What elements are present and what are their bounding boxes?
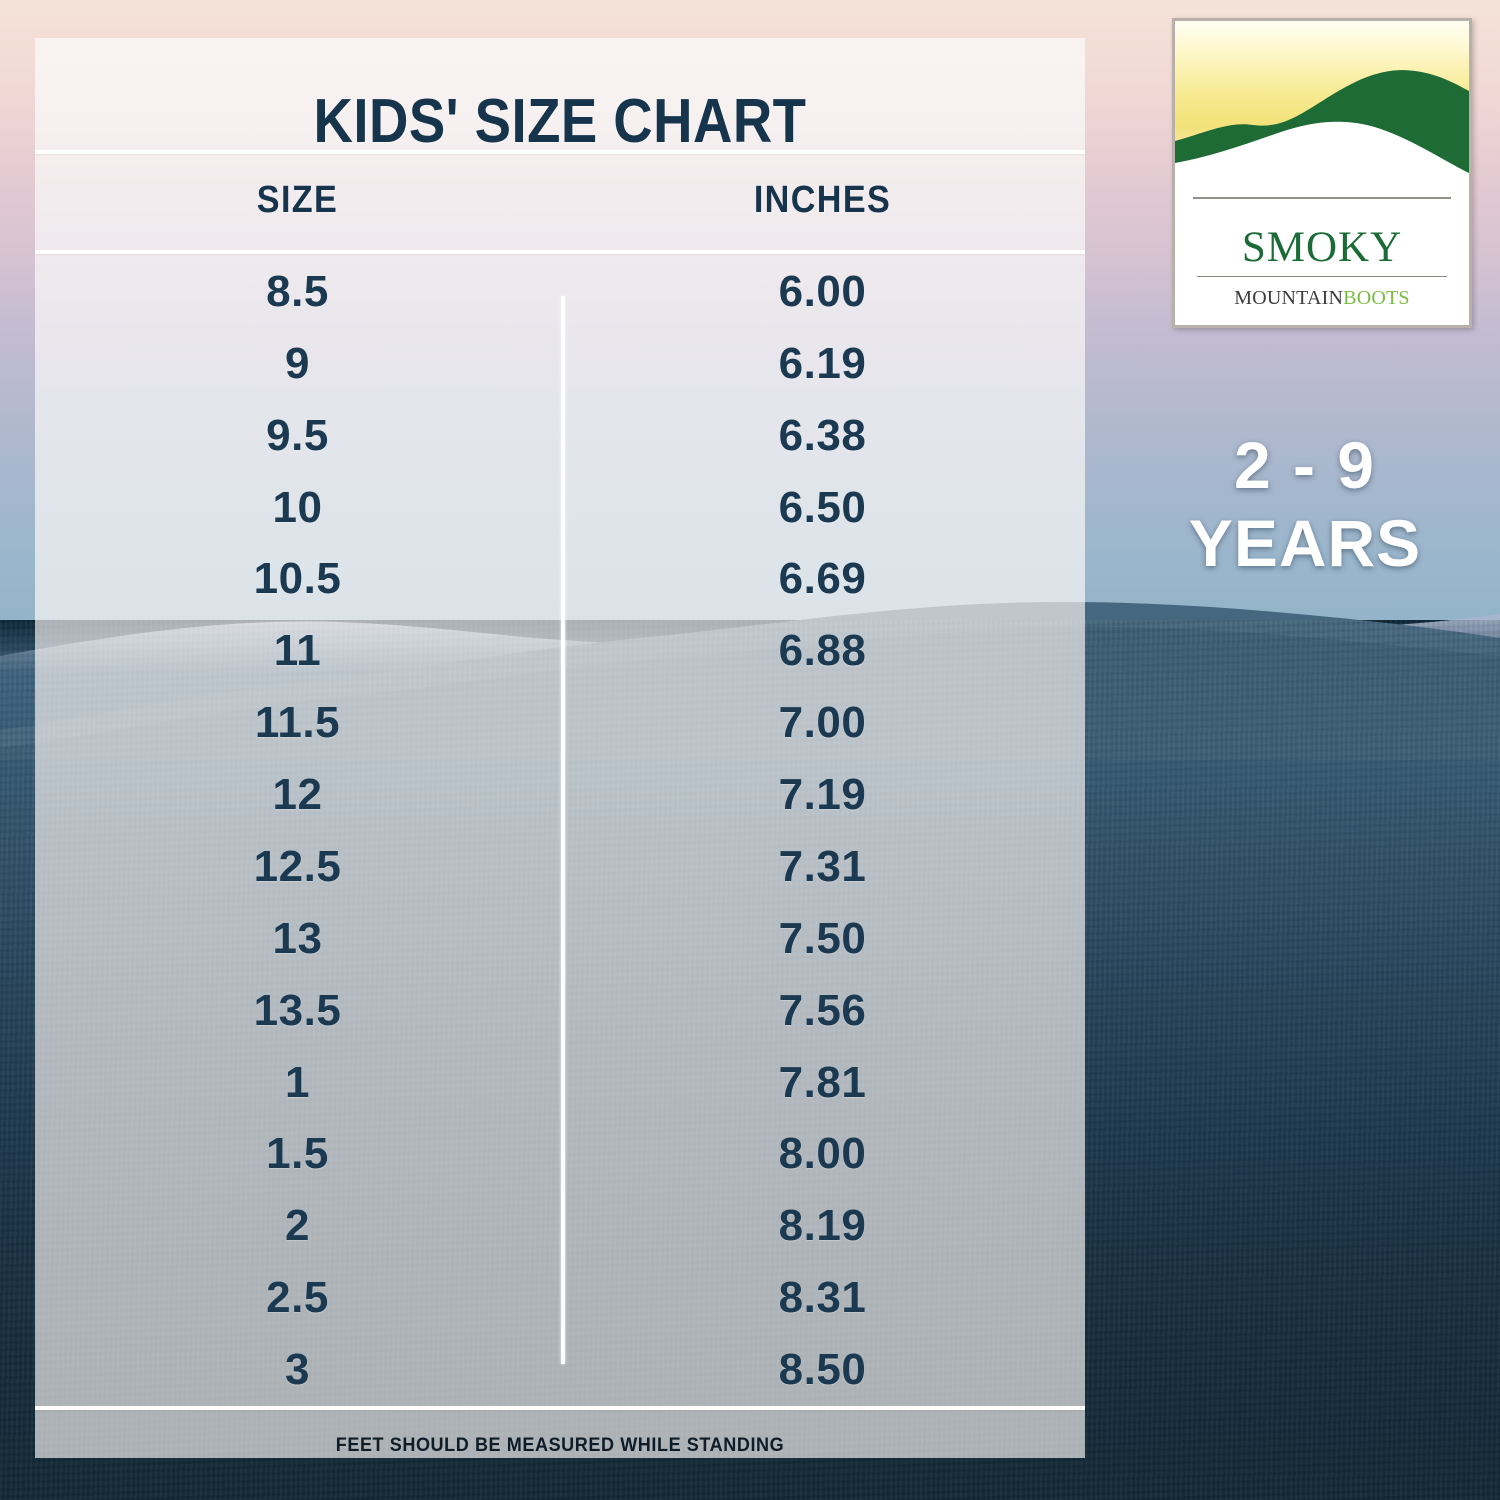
age-range-value: 2 - 9 (1110, 432, 1500, 498)
cell-inches: 7.81 (560, 1047, 1085, 1119)
cell-inches: 6.00 (560, 256, 1085, 328)
age-range-unit: YEARS (1110, 510, 1500, 576)
cell-inches: 7.31 (560, 831, 1085, 903)
table-row: 38.50 (35, 1334, 1085, 1406)
cell-size: 8.5 (35, 256, 560, 328)
cell-inches: 8.50 (560, 1334, 1085, 1406)
cell-inches: 6.19 (560, 328, 1085, 400)
cell-size: 9.5 (35, 400, 560, 472)
logo-divider (1193, 197, 1452, 199)
table-row: 12.57.31 (35, 831, 1085, 903)
logo-boots-text: Boots (1343, 280, 1410, 311)
logo-smoky-text: Smoky (1242, 210, 1402, 272)
table-row: 106.50 (35, 472, 1085, 544)
cell-size: 3 (35, 1334, 560, 1406)
cell-inches: 8.00 (560, 1119, 1085, 1191)
divider-header (35, 250, 1085, 254)
mountain-sunrise-icon (1175, 21, 1469, 197)
divider-footer (35, 1406, 1085, 1410)
cell-inches: 8.19 (560, 1190, 1085, 1262)
cell-inches: 7.19 (560, 759, 1085, 831)
table-row: 28.19 (35, 1190, 1085, 1262)
cell-size: 11.5 (35, 687, 560, 759)
cell-size: 12.5 (35, 831, 560, 903)
table-row: 1.58.00 (35, 1119, 1085, 1191)
cell-size: 2.5 (35, 1262, 560, 1334)
table-row: 11.57.00 (35, 687, 1085, 759)
cell-size: 11 (35, 615, 560, 687)
table-row: 8.56.00 (35, 256, 1085, 328)
table-row: 13.57.56 (35, 975, 1085, 1047)
cell-size: 13 (35, 903, 560, 975)
measurement-note: FEET SHOULD BE MEASURED WHILE STANDING (61, 1423, 1059, 1468)
logo-wordmark: Smoky MountainBoots (1175, 199, 1469, 325)
cell-size: 1 (35, 1047, 560, 1119)
cell-inches: 6.69 (560, 544, 1085, 616)
table-header-row: SIZE INCHES (35, 150, 1085, 250)
cell-size: 12 (35, 759, 560, 831)
table-row: 127.19 (35, 759, 1085, 831)
age-range-badge: 2 - 9 YEARS (1110, 432, 1500, 576)
cell-inches: 6.38 (560, 400, 1085, 472)
table-row: 9.56.38 (35, 400, 1085, 472)
cell-inches: 8.31 (560, 1262, 1085, 1334)
cell-size: 2 (35, 1190, 560, 1262)
cell-inches: 7.56 (560, 975, 1085, 1047)
table-row: 96.19 (35, 328, 1085, 400)
cell-inches: 7.50 (560, 903, 1085, 975)
table-row: 17.81 (35, 1047, 1085, 1119)
table-row: 137.50 (35, 903, 1085, 975)
cell-inches: 7.00 (560, 687, 1085, 759)
table-body: 8.56.0096.199.56.38106.5010.56.69116.881… (35, 256, 1085, 1406)
logo-underline (1197, 276, 1447, 277)
page-title: KIDS' SIZE CHART (98, 86, 1022, 157)
brand-logo[interactable]: Smoky MountainBoots (1172, 18, 1472, 328)
cell-inches: 6.50 (560, 472, 1085, 544)
column-header-inches: INCHES (586, 150, 1059, 250)
table-row: 116.88 (35, 615, 1085, 687)
cell-size: 10 (35, 472, 560, 544)
cell-inches: 6.88 (560, 615, 1085, 687)
cell-size: 9 (35, 328, 560, 400)
table-row: 2.58.31 (35, 1262, 1085, 1334)
logo-mountain-text: Mountain (1234, 280, 1343, 311)
cell-size: 1.5 (35, 1119, 560, 1191)
logo-subline: MountainBoots (1234, 282, 1409, 310)
size-chart-panel: KIDS' SIZE CHART SIZE INCHES 8.56.0096.1… (35, 38, 1085, 1458)
cell-size: 10.5 (35, 544, 560, 616)
column-header-size: SIZE (61, 150, 534, 250)
cell-size: 13.5 (35, 975, 560, 1047)
table-row: 10.56.69 (35, 544, 1085, 616)
